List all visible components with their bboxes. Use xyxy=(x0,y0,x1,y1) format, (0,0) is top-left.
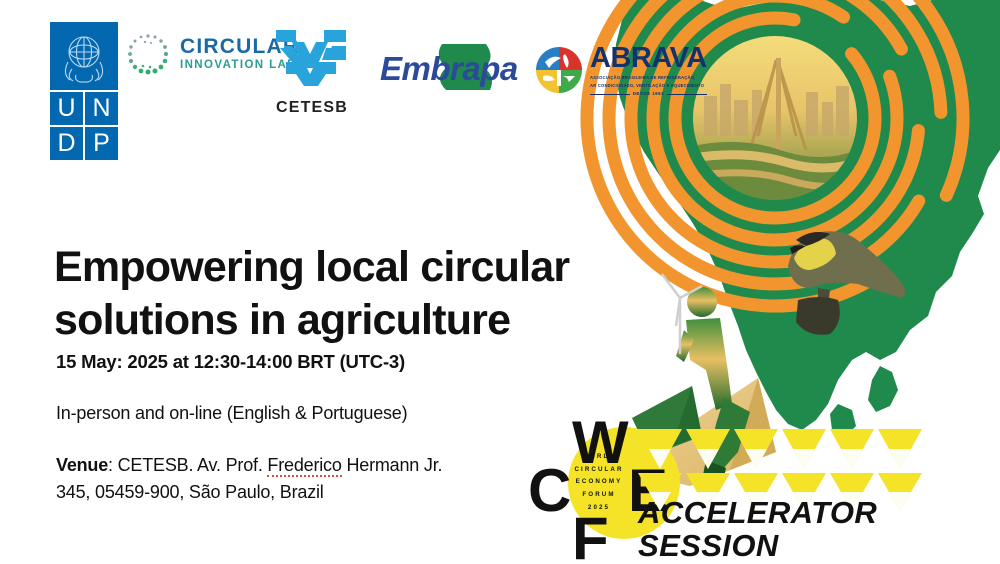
logo-undp: U N D P xyxy=(50,22,118,160)
venue-rest: Hermann Jr. xyxy=(342,455,443,475)
logo-embrapa: Embrapa xyxy=(380,44,525,96)
great-kiskadee-bird xyxy=(788,231,905,335)
wcef-micro-line-3: ECONOMY xyxy=(566,476,632,489)
dotted-circle-icon xyxy=(124,30,172,78)
abrava-since-row: DESDE 1962 xyxy=(590,92,707,97)
logo-abrava: ABRAVA ASSOCIAÇÃO BRASILEIRA DE REFRIGER… xyxy=(535,44,707,96)
event-banner: U N D P xyxy=(0,0,1000,564)
accelerator-line-1: ACCELERATOR xyxy=(638,497,877,530)
event-venue: Venue: CETESB. Av. Prof. Frederico Herma… xyxy=(56,452,536,507)
abrava-quadrant-icon xyxy=(535,46,583,94)
headline-line-1: Empowering local circular xyxy=(54,243,569,291)
abrava-wordmark: ABRAVA xyxy=(590,44,707,73)
cetesb-mark-icon xyxy=(270,28,354,90)
sao-paulo-bridge-photo xyxy=(693,36,857,200)
un-emblem-icon xyxy=(50,22,118,90)
accelerator-line-2: SESSION xyxy=(638,530,877,563)
undp-letter-u: U xyxy=(50,92,83,125)
abrava-rule-right xyxy=(667,94,707,95)
wcef-letter-c: C xyxy=(528,461,571,521)
venue-label: Venue xyxy=(56,455,108,475)
abrava-subtitle-1: ASSOCIAÇÃO BRASILEIRA DE REFRIGERAÇÃO, xyxy=(590,75,707,81)
accelerator-session-text: ACCELERATOR SESSION xyxy=(638,497,877,563)
abrava-subtitle-2: AR CONDICIONADO, VENTILAÇÃO E AQUECIMENT… xyxy=(590,83,707,89)
cetesb-wordmark: CETESB xyxy=(270,99,354,117)
event-format: In-person and on-line (English & Portugu… xyxy=(56,403,407,424)
embrapa-wordmark: Embrapa xyxy=(380,50,518,88)
wcef-micro-line-1: WORLD xyxy=(566,451,632,464)
undp-letters: U N D P xyxy=(50,92,118,160)
wcef-micro-line-2: CIRCULAR xyxy=(566,464,632,477)
headline-line-2: solutions in agriculture xyxy=(54,296,510,344)
logo-cetesb: CETESB xyxy=(270,28,354,117)
undp-letter-p: P xyxy=(85,127,118,160)
venue-line-2: 345, 05459-900, São Paulo, Brazil xyxy=(56,482,324,502)
wcef-accelerator-lockup: WORLD CIRCULAR ECONOMY FORUM 2025 W C E … xyxy=(520,405,920,564)
wcef-micro-line-4: FORUM xyxy=(566,489,632,502)
wcef-letter-f: F xyxy=(572,509,609,564)
abrava-rule-left xyxy=(590,94,630,95)
event-datetime: 15 May: 2025 at 12:30-14:00 BRT (UTC-3) xyxy=(56,351,405,373)
wcef-micro-text: WORLD CIRCULAR ECONOMY FORUM 2025 xyxy=(566,451,632,515)
abrava-since-text: DESDE 1962 xyxy=(633,92,664,97)
venue-separator: : CETESB. Av. Prof. xyxy=(108,455,267,475)
undp-letter-d: D xyxy=(50,127,83,160)
venue-spellcheck-word: Frederico xyxy=(267,455,341,477)
undp-letter-n: N xyxy=(85,92,118,125)
event-headline: Empowering local circular solutions in a… xyxy=(54,241,694,348)
wcef-micro-line-5: 2025 xyxy=(566,502,632,515)
